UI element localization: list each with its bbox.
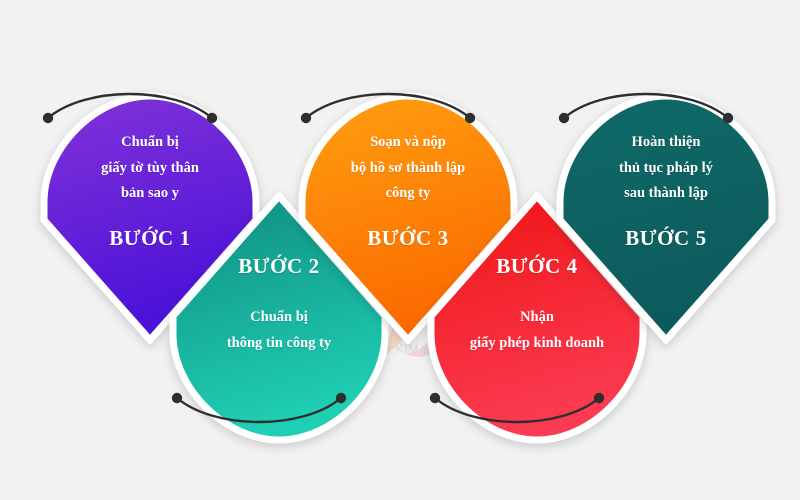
step-card-5[interactable]: Hoàn thiện thủ tục pháp lý sau thành lập… (550, 92, 782, 344)
desc-line: Soạn và nộp (351, 134, 465, 151)
desc-line: bộ hồ sơ thành lập (351, 160, 465, 177)
desc-line: Chuẩn bị (101, 134, 199, 151)
step-description-5: Hoàn thiện thủ tục pháp lý sau thành lập (619, 134, 713, 202)
desc-line: Hoàn thiện (619, 134, 713, 151)
infographic-canvas: SONG KIM Co., Ltd (0, 0, 800, 500)
step-label-5: BƯỚC 5 (625, 226, 707, 251)
desc-line: sau thành lập (619, 185, 713, 202)
desc-line: giấy tờ tùy thân (101, 160, 199, 177)
step-content-5: Hoàn thiện thủ tục pháp lý sau thành lập… (550, 92, 782, 344)
desc-line: thủ tục pháp lý (619, 160, 713, 177)
